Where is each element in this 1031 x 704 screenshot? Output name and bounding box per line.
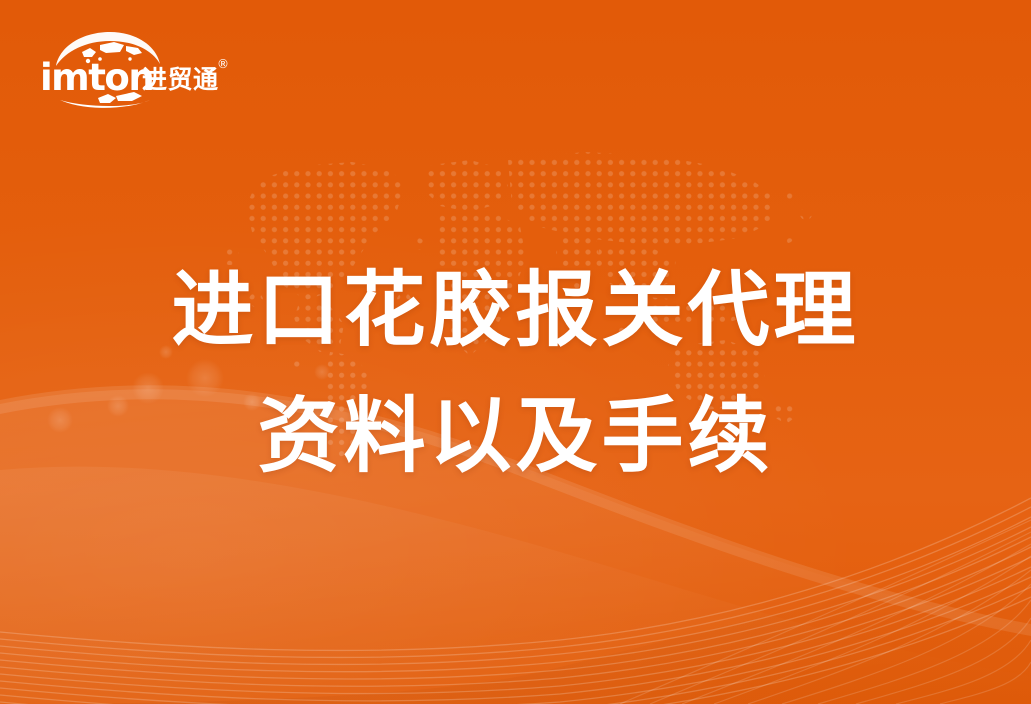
- headline-line-2: 资料以及手续: [0, 374, 1031, 500]
- registered-trademark-icon: ®: [217, 57, 229, 71]
- logo-chinese-text: 进贸通: [142, 65, 219, 94]
- headline-line-1: 进口花胶报关代理: [0, 248, 1031, 374]
- brand-logo[interactable]: imton 进贸通 ®: [38, 28, 238, 110]
- logo-wordmark: imton: [40, 56, 153, 99]
- poster-banner: imton 进贸通 ® 进口花胶报关代理 资料以及手续: [0, 0, 1031, 704]
- headline-block: 进口花胶报关代理 资料以及手续: [0, 248, 1031, 500]
